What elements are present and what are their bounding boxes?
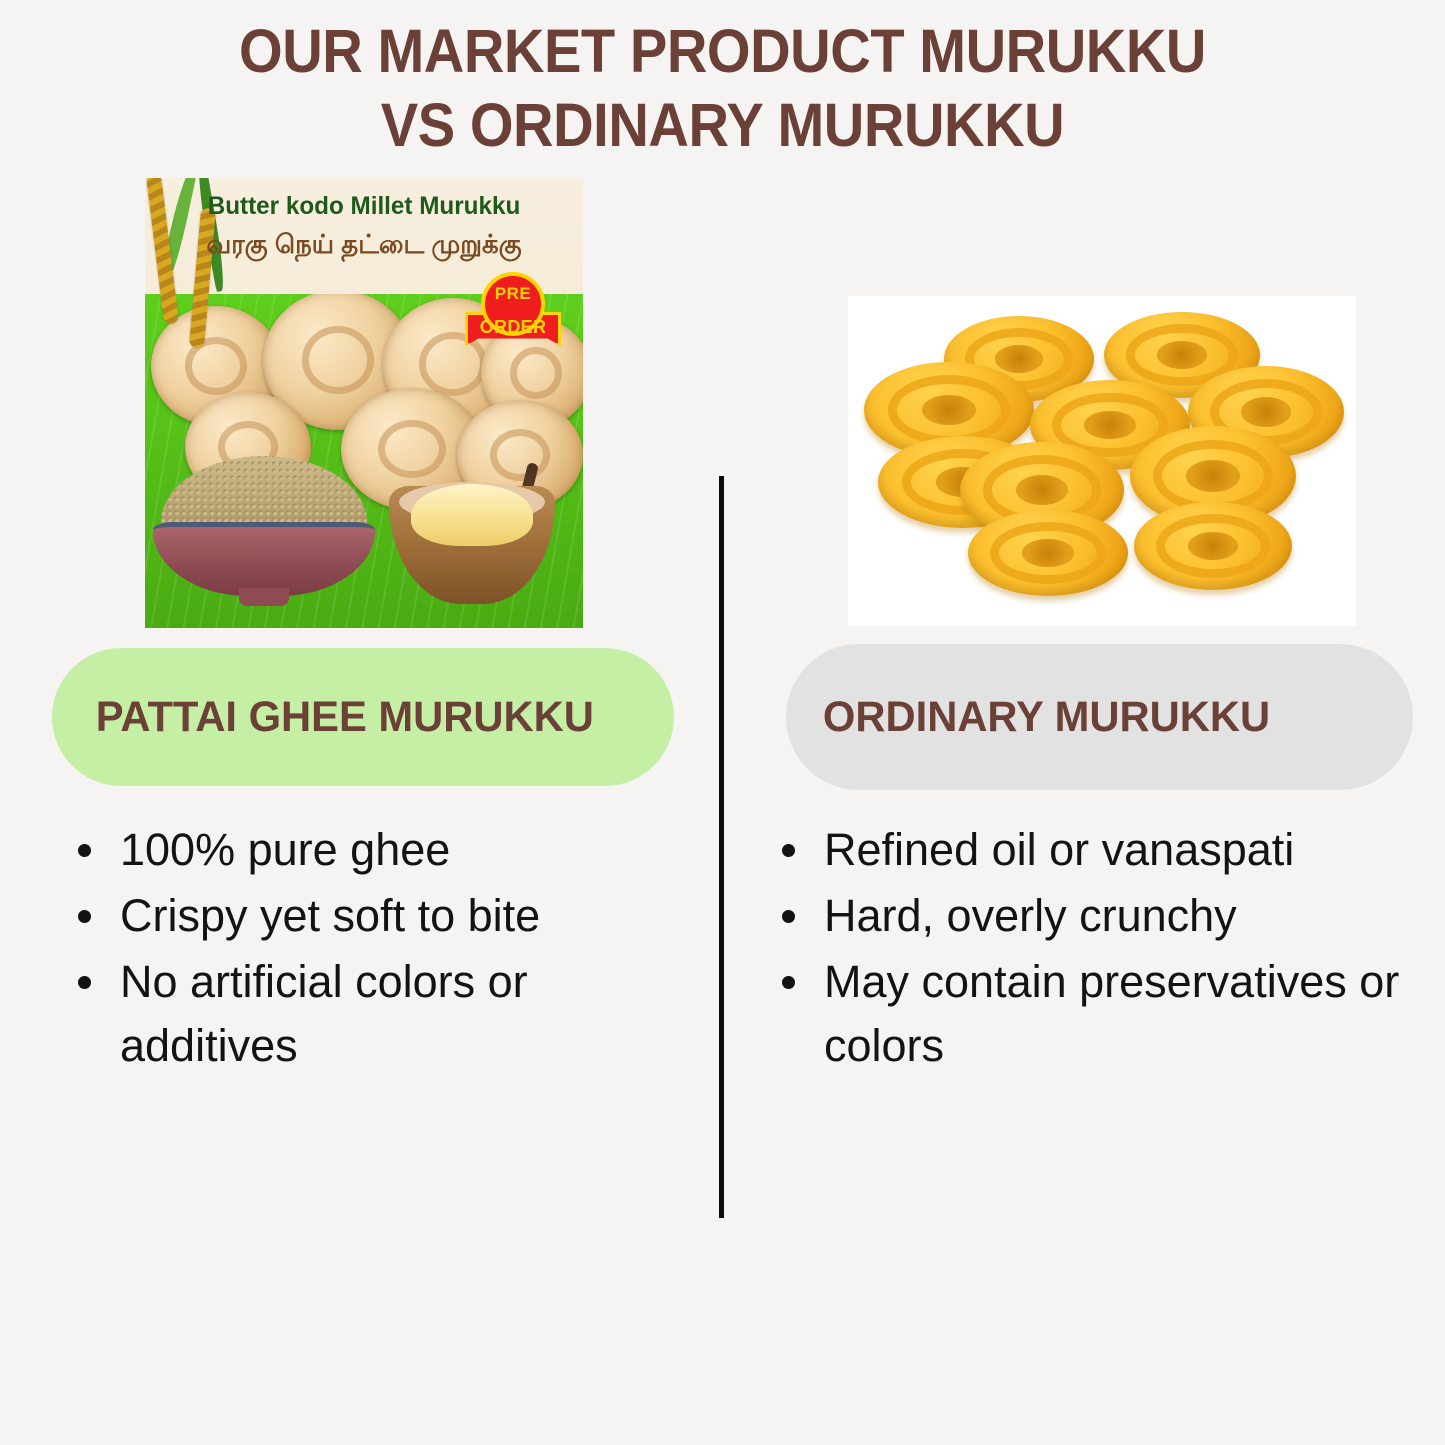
bullet-dot-icon bbox=[78, 910, 91, 923]
ordinary-murukku-image bbox=[848, 296, 1356, 626]
product-package-image: Butter kodo Millet Murukku வரகு நெய் தட்… bbox=[145, 178, 583, 628]
title-line-2: VS ORDINARY MURUKKU bbox=[58, 88, 1387, 162]
list-item-text: Crispy yet soft to bite bbox=[120, 890, 540, 941]
badge-text-order: ORDER bbox=[465, 317, 561, 338]
ordinary-murukku-piece bbox=[968, 510, 1128, 596]
ordinary-murukku-piece bbox=[1134, 502, 1292, 590]
pill-label-text: PATTAI GHEE MURUKKU bbox=[96, 693, 594, 742]
package-title-tamil: வரகு நெய் தட்டை முறுக்கு bbox=[145, 229, 583, 263]
bullet-dot-icon bbox=[782, 910, 795, 923]
list-item: 100% pure ghee bbox=[62, 818, 672, 882]
list-item: No artificial colors or additives bbox=[62, 950, 672, 1078]
page-title: OUR MARKET PRODUCT MURUKKU VS ORDINARY M… bbox=[0, 14, 1445, 162]
millet-bowl bbox=[153, 456, 375, 606]
list-item-text: May contain preservatives or colors bbox=[824, 956, 1399, 1071]
list-item-text: Hard, overly crunchy bbox=[824, 890, 1237, 941]
pattai-ghee-murukku-label: PATTAI GHEE MURUKKU bbox=[52, 648, 674, 786]
list-item-text: No artificial colors or additives bbox=[120, 956, 528, 1071]
millet-bowl-foot bbox=[239, 588, 289, 606]
ordinary-murukku-label: ORDINARY MURUKKU bbox=[786, 644, 1413, 790]
vertical-divider bbox=[719, 476, 724, 1218]
list-item: Refined oil or vanaspati bbox=[766, 818, 1426, 882]
bullet-dot-icon bbox=[782, 844, 795, 857]
list-item-text: 100% pure ghee bbox=[120, 824, 450, 875]
pattai-ghee-murukku-feature-list: 100% pure ghee Crispy yet soft to bite N… bbox=[62, 818, 672, 1080]
list-item-text: Refined oil or vanaspati bbox=[824, 824, 1294, 875]
bullet-dot-icon bbox=[78, 844, 91, 857]
comparison-poster: OUR MARKET PRODUCT MURUKKU VS ORDINARY M… bbox=[0, 0, 1445, 1445]
bullet-dot-icon bbox=[78, 976, 91, 989]
list-item: Crispy yet soft to bite bbox=[62, 884, 672, 948]
ghee-butter bbox=[411, 484, 533, 546]
ordinary-murukku-feature-list: Refined oil or vanaspati Hard, overly cr… bbox=[766, 818, 1426, 1080]
package-title-english: Butter kodo Millet Murukku bbox=[152, 192, 577, 221]
pre-order-badge: PRE ORDER bbox=[465, 272, 561, 358]
badge-text-pre: PRE bbox=[481, 284, 545, 304]
title-line-1: OUR MARKET PRODUCT MURUKKU bbox=[58, 14, 1387, 88]
ghee-bowl bbox=[389, 470, 555, 606]
list-item: May contain preservatives or colors bbox=[766, 950, 1426, 1078]
pill-label-text: ORDINARY MURUKKU bbox=[823, 693, 1270, 742]
bullet-dot-icon bbox=[782, 976, 795, 989]
list-item: Hard, overly crunchy bbox=[766, 884, 1426, 948]
millet-bowl-body bbox=[153, 522, 375, 596]
